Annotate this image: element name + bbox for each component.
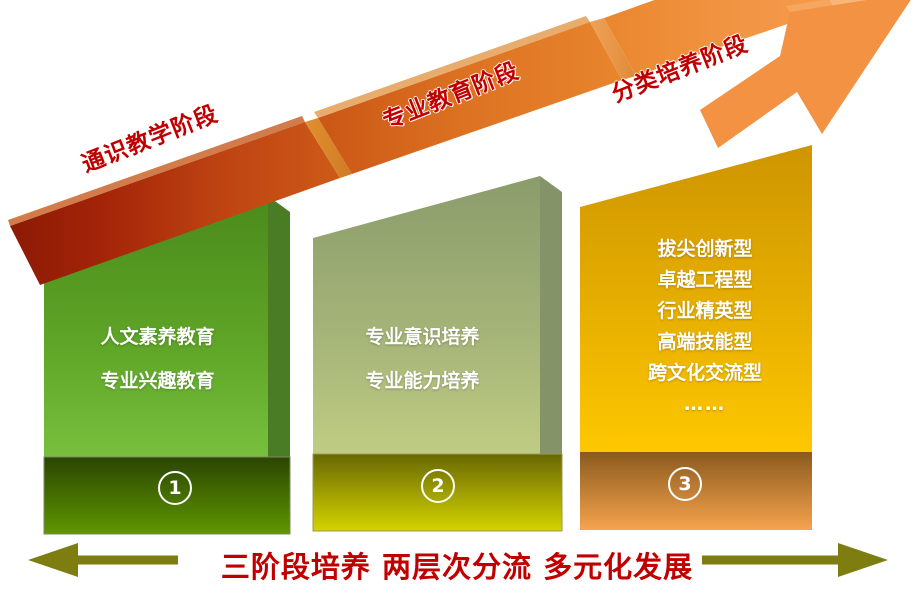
stage-3-content: 拔尖创新型 卓越工程型 行业精英型 高端技能型 跨文化交流型 …… xyxy=(580,234,830,420)
stage-3-line: 跨文化交流型 xyxy=(580,358,830,389)
stage-1-number: 1 xyxy=(168,477,181,499)
stage-2-number-badge: 2 xyxy=(421,469,455,503)
stage-3-line: 拔尖创新型 xyxy=(580,234,830,265)
stage-3-number: 3 xyxy=(678,473,691,495)
stage-2-line: 专业意识培养 xyxy=(315,315,530,359)
stage-3-number-badge: 3 xyxy=(668,467,702,501)
stage-1-line: 专业兴趣教育 xyxy=(50,359,265,403)
stage-1-line: 人文素养教育 xyxy=(50,315,265,359)
stage-3-line-ellipsis: …… xyxy=(580,389,830,420)
diagram-canvas: 通识教学阶段 专业教育阶段 分类培养阶段 人文素养教育 专业兴趣教育 专业意识培… xyxy=(0,0,914,594)
stage-3-line: 高端技能型 xyxy=(580,327,830,358)
stage-2-number: 2 xyxy=(431,475,444,497)
stage-2-line: 专业能力培养 xyxy=(315,359,530,403)
stage-2-content: 专业意识培养 专业能力培养 xyxy=(315,315,530,403)
stage-3-line: 行业精英型 xyxy=(580,296,830,327)
stage-1-number-badge: 1 xyxy=(158,471,192,505)
stage-1-content: 人文素养教育 专业兴趣教育 xyxy=(50,315,265,403)
bottom-caption: 三阶段培养 两层次分流 多元化发展 xyxy=(0,544,914,586)
stage-3-line: 卓越工程型 xyxy=(580,265,830,296)
